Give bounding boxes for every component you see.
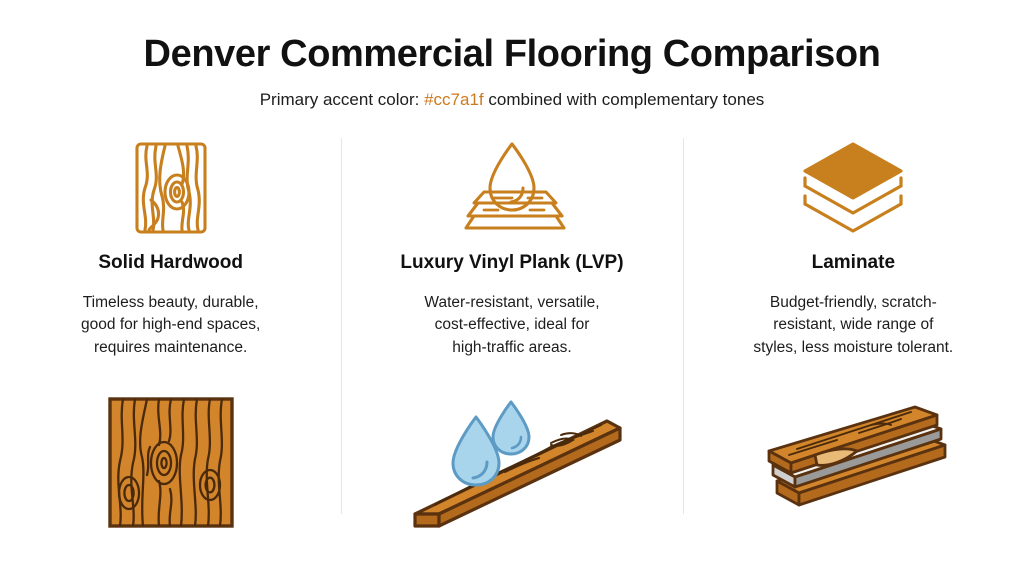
column-heading: Laminate xyxy=(812,252,895,275)
subtitle-prefix-text: Primary accent color: xyxy=(260,90,424,109)
column-heading: Solid Hardwood xyxy=(98,252,243,275)
column-description: Water-resistant, versatile, cost-effecti… xyxy=(424,292,599,359)
layered-laminate-plank-illustration xyxy=(683,380,1024,530)
hardwood-grain-panel-illustration xyxy=(0,380,341,530)
water-droplet-on-plank-icon xyxy=(454,140,570,236)
page-subtitle: Primary accent color: #cc7a1f combined w… xyxy=(0,90,1024,110)
column-description: Timeless beauty, durable, good for high-… xyxy=(81,292,260,359)
comparison-column-laminate: Laminate Budget-friendly, scratch- resis… xyxy=(683,134,1024,530)
stacked-layers-icon xyxy=(799,140,907,236)
page-header: Denver Commercial Flooring Comparison Pr… xyxy=(0,0,1024,110)
column-heading: Luxury Vinyl Plank (LVP) xyxy=(400,252,623,275)
comparison-columns: Solid Hardwood Timeless beauty, durable,… xyxy=(0,134,1024,530)
page-title: Denver Commercial Flooring Comparison xyxy=(0,34,1024,76)
subtitle-suffix-text: combined with complementary tones xyxy=(484,90,765,109)
column-description: Budget-friendly, scratch- resistant, wid… xyxy=(753,292,953,359)
comparison-column-luxury-vinyl-plank: Luxury Vinyl Plank (LVP) Water-resistant… xyxy=(341,134,682,530)
accent-color-code: #cc7a1f xyxy=(424,90,484,109)
wood-grain-panel-icon xyxy=(120,140,222,236)
comparison-column-solid-hardwood: Solid Hardwood Timeless beauty, durable,… xyxy=(0,134,341,530)
plank-with-water-droplets-illustration xyxy=(341,380,682,530)
